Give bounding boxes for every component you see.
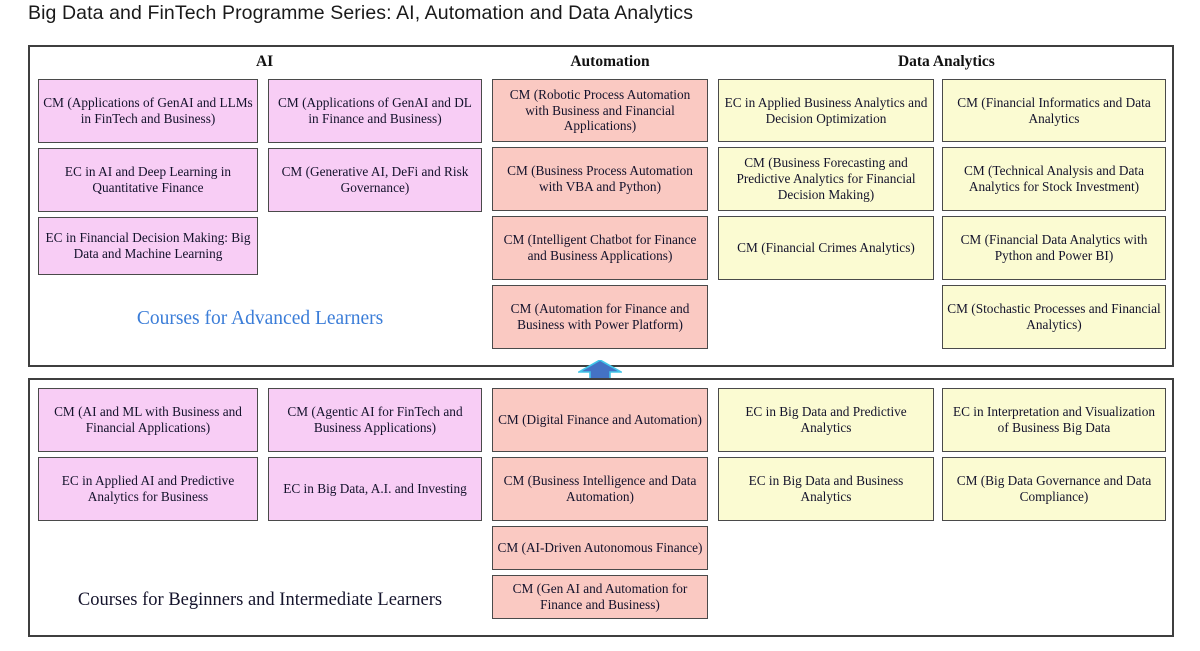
advanced-learners-label: Courses for Advanced Learners	[40, 308, 480, 330]
advanced-ai-column-1: CM (Applications of GenAI and LLMs in Fi…	[38, 79, 258, 280]
advanced-header-row: AI Automation Data Analytics	[30, 47, 1172, 77]
column-header-ai: AI	[30, 53, 499, 71]
advanced-ai-column-2: CM (Applications of GenAI and DL in Fina…	[268, 79, 482, 217]
course-card-label: CM (Business Forecasting and Predictive …	[723, 155, 929, 202]
course-card[interactable]: CM (AI-Driven Autonomous Finance)	[492, 526, 708, 570]
course-card-label: EC in Big Data, A.I. and Investing	[283, 481, 467, 497]
course-card[interactable]: CM (Gen AI and Automation for Finance an…	[492, 575, 708, 619]
course-card-label: CM (Business Intelligence and Data Autom…	[497, 473, 703, 504]
course-card-label: CM (Gen AI and Automation for Finance an…	[497, 581, 703, 612]
course-card-label: CM (Generative AI, DeFi and Risk Governa…	[273, 164, 477, 195]
course-card-label: CM (AI and ML with Business and Financia…	[43, 404, 253, 435]
course-card[interactable]: EC in Interpretation and Visualization o…	[942, 388, 1166, 452]
course-card-label: CM (Robotic Process Automation with Busi…	[497, 87, 703, 134]
beginner-ai-column-2: CM (Agentic AI for FinTech and Business …	[268, 388, 482, 526]
course-card[interactable]: CM (Agentic AI for FinTech and Business …	[268, 388, 482, 452]
beginner-ai-column-1: CM (AI and ML with Business and Financia…	[38, 388, 258, 526]
beginner-data-analytics-column-2: EC in Interpretation and Visualization o…	[942, 388, 1166, 526]
course-card-label: CM (Agentic AI for FinTech and Business …	[273, 404, 477, 435]
course-card-label: CM (Applications of GenAI and DL in Fina…	[273, 95, 477, 126]
course-card[interactable]: CM (Big Data Governance and Data Complia…	[942, 457, 1166, 521]
course-card-label: EC in Interpretation and Visualization o…	[947, 404, 1161, 435]
course-card[interactable]: CM (Business Forecasting and Predictive …	[718, 147, 934, 211]
course-card[interactable]: EC in Applied Business Analytics and Dec…	[718, 79, 934, 142]
course-card[interactable]: CM (Intelligent Chatbot for Finance and …	[492, 216, 708, 280]
course-card-label: CM (Intelligent Chatbot for Finance and …	[497, 232, 703, 263]
beginner-data-analytics-column-1: EC in Big Data and Predictive Analytics …	[718, 388, 934, 526]
beginner-intermediate-label: Courses for Beginners and Intermediate L…	[40, 590, 480, 611]
course-card-label: CM (Financial Data Analytics with Python…	[947, 232, 1161, 263]
course-card[interactable]: CM (AI and ML with Business and Financia…	[38, 388, 258, 452]
course-card[interactable]: CM (Stochastic Processes and Financial A…	[942, 285, 1166, 349]
course-card[interactable]: EC in Applied AI and Predictive Analytic…	[38, 457, 258, 521]
course-card-label: EC in Applied Business Analytics and Dec…	[723, 95, 929, 126]
course-card-label: CM (AI-Driven Autonomous Finance)	[498, 540, 703, 556]
course-card[interactable]: CM (Automation for Finance and Business …	[492, 285, 708, 349]
advanced-data-analytics-column-1: EC in Applied Business Analytics and Dec…	[718, 79, 934, 285]
course-card[interactable]: EC in AI and Deep Learning in Quantitati…	[38, 148, 258, 212]
advanced-automation-column: CM (Robotic Process Automation with Busi…	[492, 79, 708, 354]
course-card-label: EC in Big Data and Predictive Analytics	[723, 404, 929, 435]
course-card[interactable]: CM (Financial Data Analytics with Python…	[942, 216, 1166, 280]
course-card-label: CM (Business Process Automation with VBA…	[497, 163, 703, 194]
course-card-label: EC in Financial Decision Making: Big Dat…	[43, 230, 253, 261]
page-title: Big Data and FinTech Programme Series: A…	[28, 2, 693, 25]
course-card-label: CM (Applications of GenAI and LLMs in Fi…	[43, 95, 253, 126]
course-card[interactable]: CM (Digital Finance and Automation)	[492, 388, 708, 452]
course-card[interactable]: CM (Applications of GenAI and DL in Fina…	[268, 79, 482, 143]
course-card-label: CM (Technical Analysis and Data Analytic…	[947, 163, 1161, 194]
course-card[interactable]: CM (Business Process Automation with VBA…	[492, 147, 708, 211]
beginner-automation-column: CM (Digital Finance and Automation) CM (…	[492, 388, 708, 624]
course-card-label: EC in AI and Deep Learning in Quantitati…	[43, 164, 253, 195]
course-card-label: CM (Financial Informatics and Data Analy…	[947, 95, 1161, 126]
course-card-label: CM (Big Data Governance and Data Complia…	[947, 473, 1161, 504]
course-card[interactable]: CM (Financial Informatics and Data Analy…	[942, 79, 1166, 142]
course-card[interactable]: EC in Financial Decision Making: Big Dat…	[38, 217, 258, 275]
column-header-automation: Automation	[499, 53, 721, 71]
course-card[interactable]: CM (Applications of GenAI and LLMs in Fi…	[38, 79, 258, 143]
course-card[interactable]: EC in Big Data and Predictive Analytics	[718, 388, 934, 452]
course-card[interactable]: EC in Big Data and Business Analytics	[718, 457, 934, 521]
course-card-label: CM (Automation for Finance and Business …	[497, 301, 703, 332]
course-card-label: EC in Big Data and Business Analytics	[723, 473, 929, 504]
course-card[interactable]: CM (Business Intelligence and Data Autom…	[492, 457, 708, 521]
course-card[interactable]: EC in Big Data, A.I. and Investing	[268, 457, 482, 521]
course-card-label: CM (Financial Crimes Analytics)	[737, 240, 915, 256]
advanced-data-analytics-column-2: CM (Financial Informatics and Data Analy…	[942, 79, 1166, 354]
course-card-label: EC in Applied AI and Predictive Analytic…	[43, 473, 253, 504]
course-card-label: CM (Digital Finance and Automation)	[498, 412, 702, 428]
course-card[interactable]: CM (Generative AI, DeFi and Risk Governa…	[268, 148, 482, 212]
course-card[interactable]: CM (Technical Analysis and Data Analytic…	[942, 147, 1166, 211]
course-card[interactable]: CM (Robotic Process Automation with Busi…	[492, 79, 708, 142]
course-card-label: CM (Stochastic Processes and Financial A…	[947, 301, 1161, 332]
column-header-data-analytics: Data Analytics	[721, 53, 1172, 71]
course-card[interactable]: CM (Financial Crimes Analytics)	[718, 216, 934, 280]
